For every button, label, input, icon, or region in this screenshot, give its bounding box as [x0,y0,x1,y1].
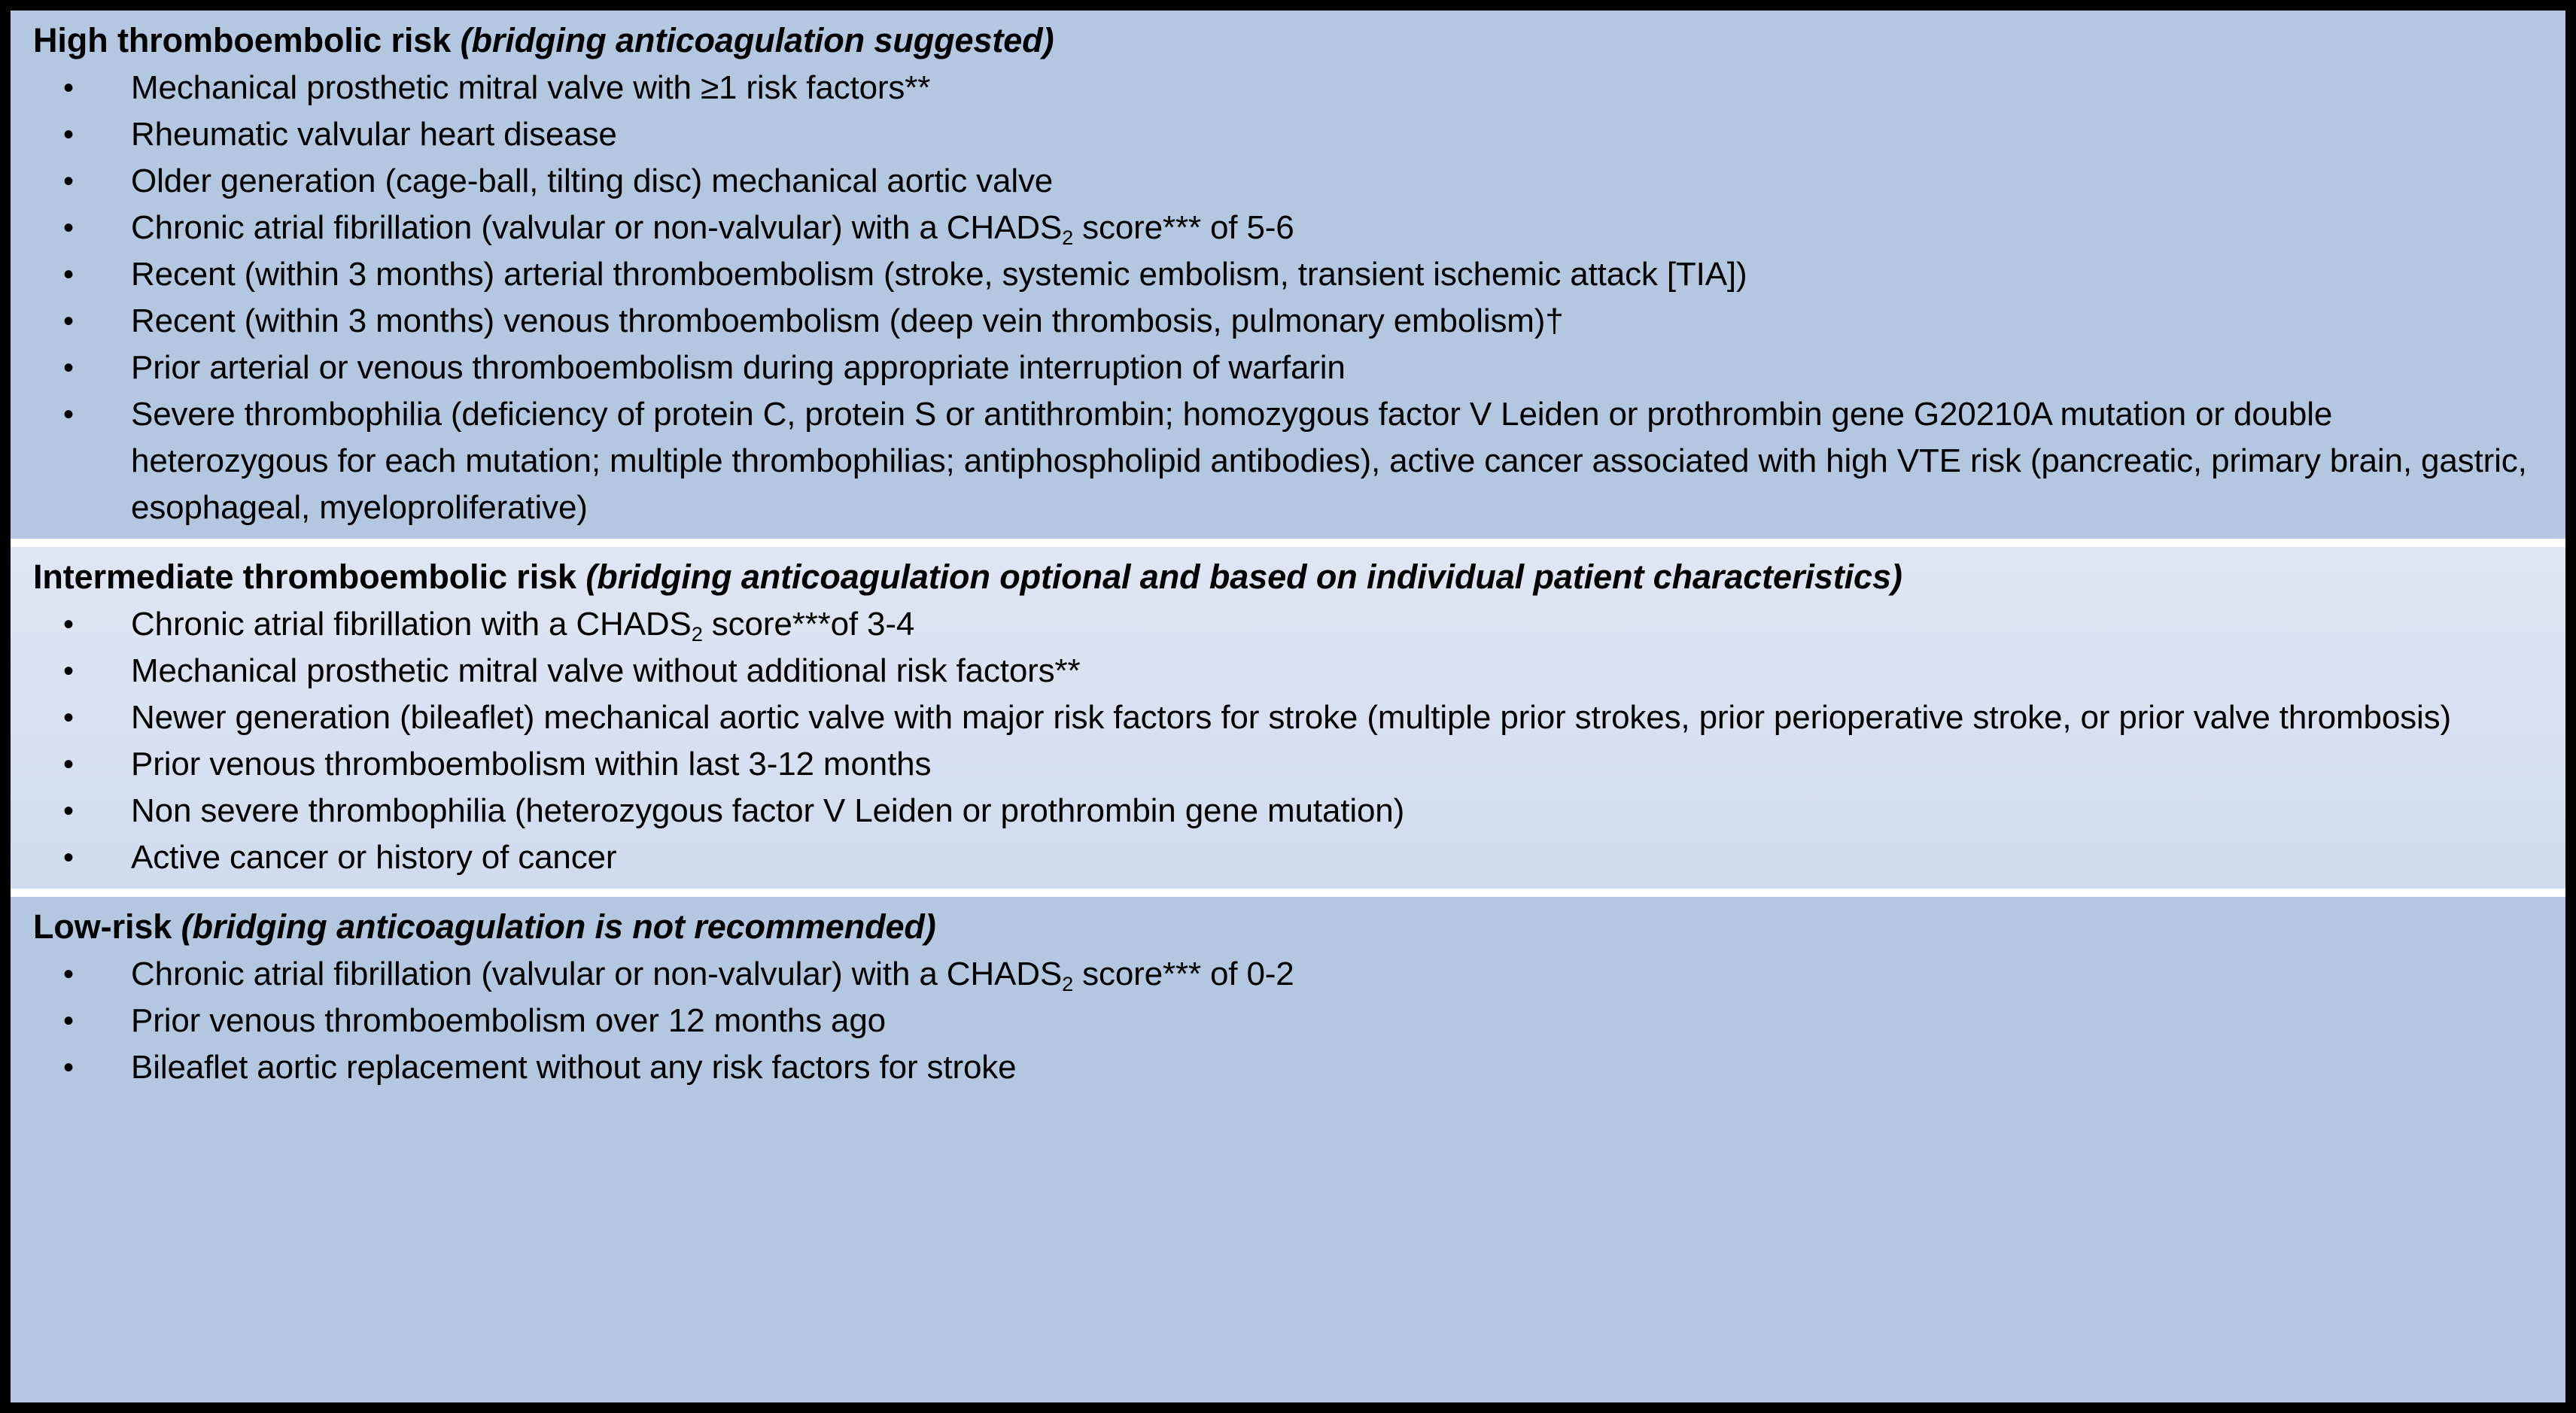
list-item-text: Active cancer or history of cancer [131,834,2535,881]
bullet-icon: • [63,741,86,788]
list-item-text: Chronic atrial fibrillation (valvular or… [131,205,2535,251]
list-item-text: Severe thrombophilia (deficiency of prot… [131,391,2535,531]
bullet-icon: • [63,251,86,298]
list-item: • Mechanical prosthetic mitral valve wit… [11,65,2565,111]
bullet-icon: • [63,391,86,438]
bullet-list-intermediate-risk: • Chronic atrial fibrillation with a CHA… [11,601,2565,881]
list-item: • Severe thrombophilia (deficiency of pr… [11,391,2565,531]
bullet-icon: • [63,205,86,251]
list-item-text: Bileaflet aortic replacement without any… [131,1044,2535,1091]
list-item-text: Recent (within 3 months) arterial thromb… [131,251,2535,298]
list-item-text: Mechanical prosthetic mitral valve with … [131,65,2535,111]
list-item-text: Chronic atrial fibrillation with a CHADS… [131,601,2535,648]
bullet-icon: • [63,694,86,741]
list-item-text: Recent (within 3 months) venous thromboe… [131,298,2535,345]
section-heading-main: Low-risk [33,907,181,946]
list-item: • Chronic atrial fibrillation with a CHA… [11,601,2565,648]
list-item: • Prior arterial or venous thromboemboli… [11,345,2565,391]
bullet-icon: • [63,65,86,111]
section-heading-intermediate-risk: Intermediate thromboembolic risk (bridgi… [11,552,2565,601]
list-item-text: Non severe thrombophilia (heterozygous f… [131,788,2535,834]
list-item-text: Prior venous thromboembolism over 12 mon… [131,998,2535,1044]
list-item-text: Rheumatic valvular heart disease [131,111,2535,158]
list-item: • Prior venous thromboembolism over 12 m… [11,998,2565,1044]
bullet-icon: • [63,648,86,694]
list-item: • Chronic atrial fibrillation (valvular … [11,205,2565,251]
bullet-list-high-risk: • Mechanical prosthetic mitral valve wit… [11,65,2565,531]
section-heading-subtitle: (bridging anticoagulation optional and b… [585,558,1902,596]
chads-subscript: 2 [1062,226,1073,249]
list-item: • Mechanical prosthetic mitral valve wit… [11,648,2565,694]
section-heading-subtitle: (bridging anticoagulation suggested) [461,21,1054,59]
bullet-icon: • [63,601,86,648]
list-item: • Active cancer or history of cancer [11,834,2565,881]
section-heading-subtitle: (bridging anticoagulation is not recomme… [181,907,936,946]
section-high-risk: High thromboembolic risk (bridging antic… [11,11,2565,539]
list-item-text: Older generation (cage-ball, tilting dis… [131,158,2535,205]
bullet-icon: • [63,834,86,881]
list-item: • Non severe thrombophilia (heterozygous… [11,788,2565,834]
bullet-icon: • [63,158,86,205]
bullet-icon: • [63,998,86,1044]
list-item: • Recent (within 3 months) venous thromb… [11,298,2565,345]
list-item-text: Mechanical prosthetic mitral valve witho… [131,648,2535,694]
section-heading-main: High thromboembolic risk [33,21,461,59]
table-body: High thromboembolic risk (bridging antic… [11,11,2565,1402]
list-item: • Bileaflet aortic replacement without a… [11,1044,2565,1091]
bullet-icon: • [63,345,86,391]
bullet-icon: • [63,788,86,834]
bullet-icon: • [63,111,86,158]
bullet-icon: • [63,298,86,345]
bullet-icon: • [63,951,86,998]
section-heading-low-risk: Low-risk (bridging anticoagulation is no… [11,901,2565,951]
chads-subscript: 2 [1062,972,1073,995]
bullet-list-low-risk: • Chronic atrial fibrillation (valvular … [11,951,2565,1091]
section-heading-high-risk: High thromboembolic risk (bridging antic… [11,15,2565,65]
list-item: • Recent (within 3 months) arterial thro… [11,251,2565,298]
section-intermediate-risk: Intermediate thromboembolic risk (bridgi… [11,547,2565,889]
section-heading-main: Intermediate thromboembolic risk [33,558,585,596]
list-item: • Prior venous thromboembolism within la… [11,741,2565,788]
bullet-icon: • [63,1044,86,1091]
list-item: • Chronic atrial fibrillation (valvular … [11,951,2565,998]
list-item-text: Prior arterial or venous thromboembolism… [131,345,2535,391]
list-item: • Newer generation (bileaflet) mechanica… [11,694,2565,741]
list-item-text: Newer generation (bileaflet) mechanical … [131,694,2535,741]
list-item-text: Prior venous thromboembolism within last… [131,741,2535,788]
list-item: • Older generation (cage-ball, tilting d… [11,158,2565,205]
section-low-risk: Low-risk (bridging anticoagulation is no… [11,897,2565,1402]
risk-stratification-table: High thromboembolic risk (bridging antic… [0,0,2576,1413]
list-item: • Rheumatic valvular heart disease [11,111,2565,158]
chads-subscript: 2 [692,622,703,646]
list-item-text: Chronic atrial fibrillation (valvular or… [131,951,2535,998]
